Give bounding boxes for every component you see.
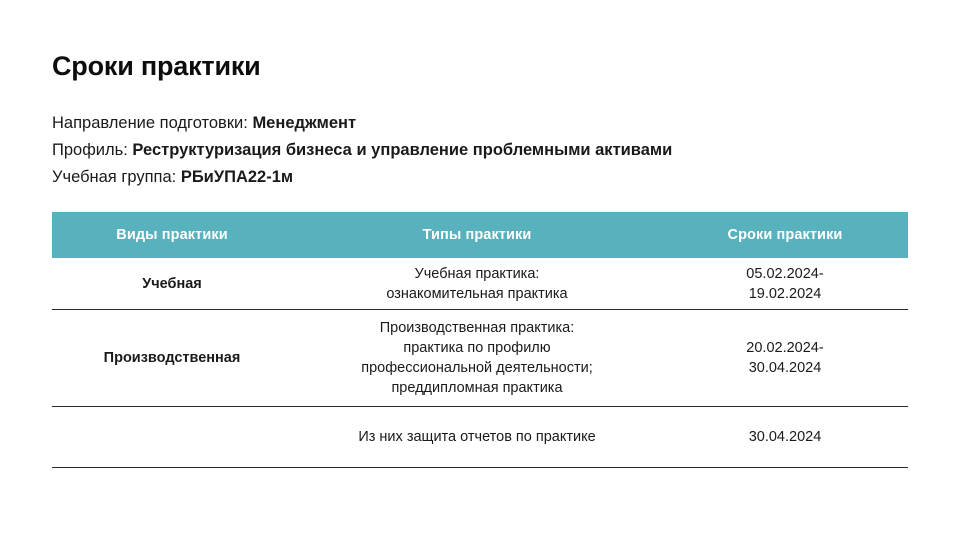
cell-type-line: профессиональной деятельности; bbox=[292, 358, 662, 378]
cell-type-line: ознакомительная практика bbox=[292, 284, 662, 304]
cell-type-line: Учебная практика: bbox=[292, 264, 662, 284]
meta-line-direction: Направление подготовки: Менеджмент bbox=[52, 110, 912, 137]
column-header-kind: Виды практики bbox=[52, 212, 292, 258]
meta-label-profile: Профиль: bbox=[52, 141, 132, 159]
meta-block: Направление подготовки: Менеджмент Профи… bbox=[52, 110, 912, 191]
practice-schedule-table: Виды практики Типы практики Сроки практи… bbox=[52, 212, 908, 468]
table-body: Учебная Учебная практика: ознакомительна… bbox=[52, 258, 908, 468]
table-row: Производственная Производственная практи… bbox=[52, 310, 908, 407]
cell-type: Производственная практика: практика по п… bbox=[292, 310, 662, 407]
cell-type-line: Производственная практика: bbox=[292, 318, 662, 338]
cell-kind: Учебная bbox=[52, 258, 292, 310]
cell-dates: 05.02.2024- 19.02.2024 bbox=[662, 258, 908, 310]
cell-type: Учебная практика: ознакомительная практи… bbox=[292, 258, 662, 310]
cell-dates-line: 05.02.2024- bbox=[662, 264, 908, 284]
table-header-row: Виды практики Типы практики Сроки практи… bbox=[52, 212, 908, 258]
meta-line-group: Учебная группа: РБиУПА22-1м bbox=[52, 164, 912, 191]
column-header-type: Типы практики bbox=[292, 212, 662, 258]
meta-label-direction: Направление подготовки: bbox=[52, 114, 252, 132]
column-header-dates: Сроки практики bbox=[662, 212, 908, 258]
page-title: Сроки практики bbox=[52, 52, 261, 82]
cell-dates-line: 19.02.2024 bbox=[662, 284, 908, 304]
cell-dates-line: 20.02.2024- bbox=[662, 338, 908, 358]
meta-value-profile: Реструктуризация бизнеса и управление пр… bbox=[132, 141, 672, 159]
table-header: Виды практики Типы практики Сроки практи… bbox=[52, 212, 908, 258]
cell-kind: Производственная bbox=[52, 310, 292, 407]
cell-dates-line: 30.04.2024 bbox=[662, 427, 908, 447]
table-row: Учебная Учебная практика: ознакомительна… bbox=[52, 258, 908, 310]
meta-value-direction: Менеджмент bbox=[252, 114, 356, 132]
cell-type: Из них защита отчетов по практике bbox=[292, 407, 662, 468]
cell-type-line: практика по профилю bbox=[292, 338, 662, 358]
cell-type-line: преддипломная практика bbox=[292, 378, 662, 398]
slide-root: Сроки практики Направление подготовки: М… bbox=[0, 0, 960, 540]
meta-line-profile: Профиль: Реструктуризация бизнеса и упра… bbox=[52, 137, 912, 164]
cell-type-line: Из них защита отчетов по практике bbox=[292, 427, 662, 447]
cell-dates: 30.04.2024 bbox=[662, 407, 908, 468]
cell-kind bbox=[52, 407, 292, 468]
cell-dates: 20.02.2024- 30.04.2024 bbox=[662, 310, 908, 407]
meta-label-group: Учебная группа: bbox=[52, 168, 181, 186]
meta-value-group: РБиУПА22-1м bbox=[181, 168, 293, 186]
cell-dates-line: 30.04.2024 bbox=[662, 358, 908, 378]
table-row: Из них защита отчетов по практике 30.04.… bbox=[52, 407, 908, 468]
